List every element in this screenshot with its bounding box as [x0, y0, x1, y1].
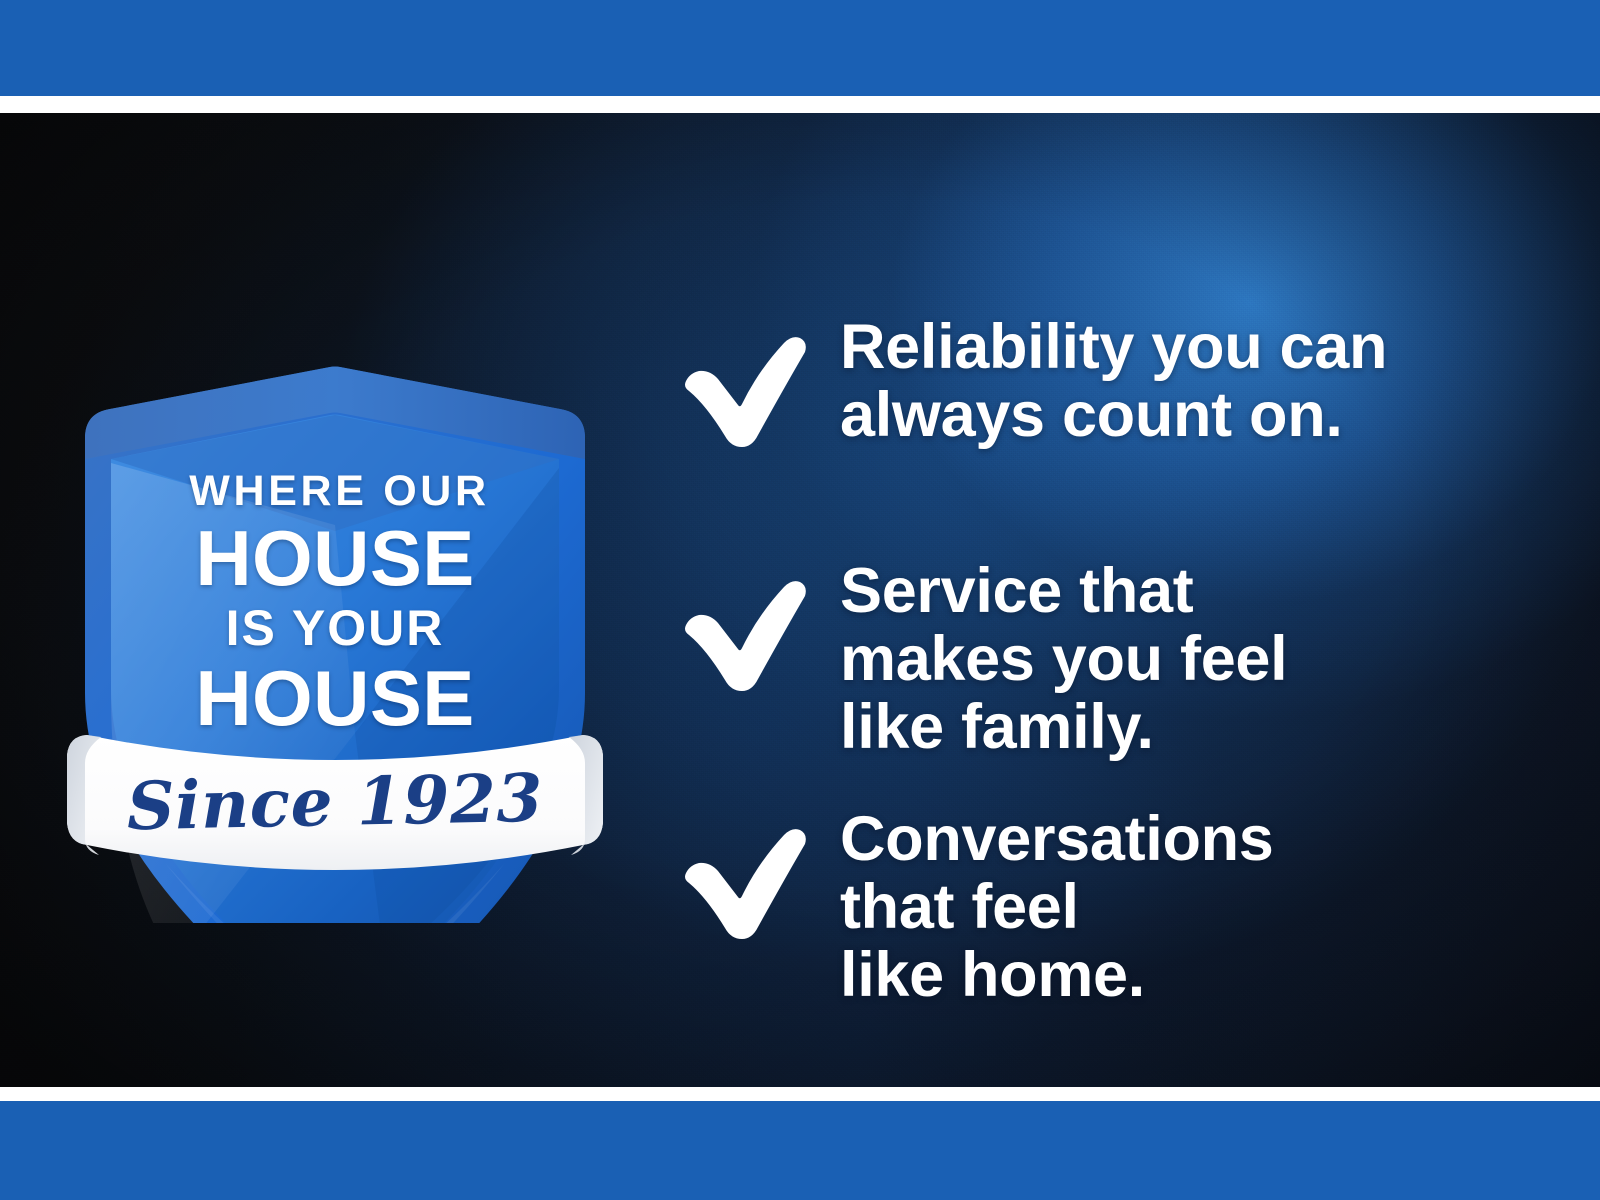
list-item: Service that makes you feel like family.	[672, 557, 1552, 761]
top-accent-bar	[0, 0, 1600, 96]
benefit-text: Reliability you can always count on.	[840, 313, 1552, 449]
list-item: Conversations that feel like home.	[672, 805, 1552, 1009]
benefits-list: Reliability you can always count on. Ser…	[672, 313, 1552, 1009]
checkmark-icon	[672, 575, 814, 695]
shield-logo: WHERE OUR HOUSE IS YOUR HOUSE Since 1923	[55, 263, 615, 923]
checkmark-icon	[672, 331, 814, 451]
shield-graphic	[55, 263, 615, 923]
benefit-text: Conversations that feel like home.	[840, 805, 1552, 1009]
checkmark-icon	[672, 823, 814, 943]
list-item: Reliability you can always count on.	[672, 313, 1552, 513]
benefit-text: Service that makes you feel like family.	[840, 557, 1552, 761]
top-white-rule	[0, 96, 1600, 113]
bottom-accent-bar	[0, 1101, 1600, 1200]
bottom-white-rule	[0, 1087, 1600, 1101]
promo-graphic: WHERE OUR HOUSE IS YOUR HOUSE Since 1923	[0, 0, 1600, 1200]
artwork-canvas: WHERE OUR HOUSE IS YOUR HOUSE Since 1923	[0, 113, 1600, 1087]
